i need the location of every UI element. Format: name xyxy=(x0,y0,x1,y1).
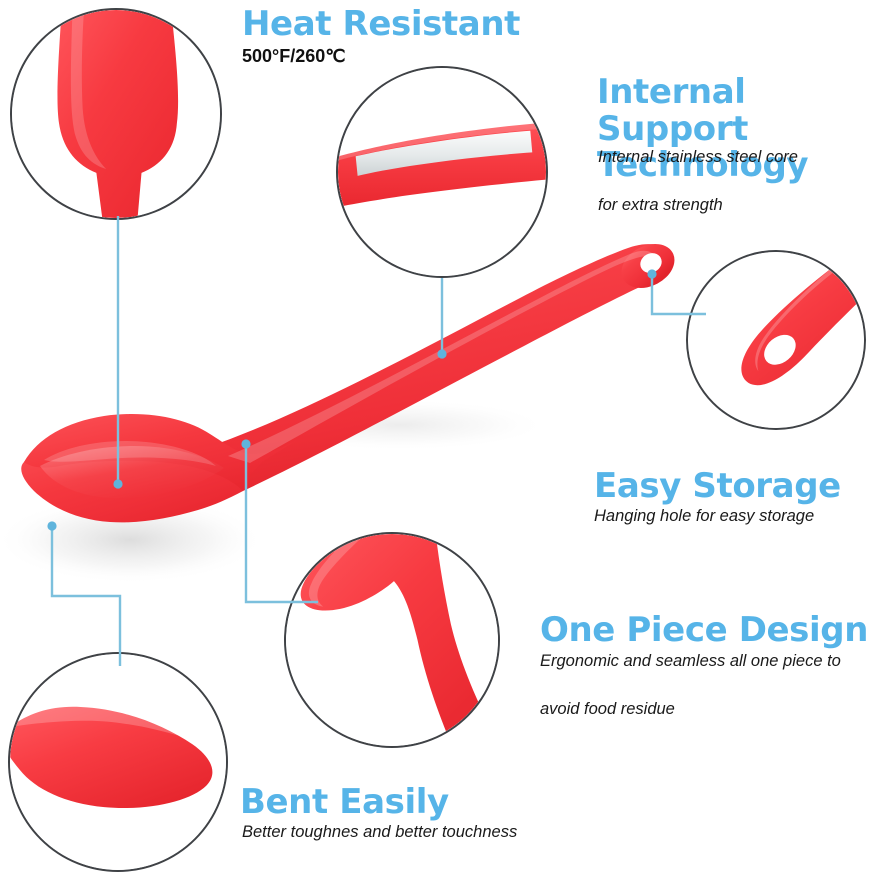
product-infographic: Heat Resistant 500°F/260℃ Internal Suppo… xyxy=(0,0,874,883)
feature-subtitle-heat-resistant: 500°F/260℃ xyxy=(242,46,542,68)
callout-spatula-head xyxy=(10,8,222,220)
callout-spatula-head-image xyxy=(12,10,220,218)
callout-steel-core xyxy=(336,66,548,278)
feature-subtitle-one-piece-design: Ergonomic and seamless all one piece to … xyxy=(540,650,874,722)
callout-hanging-hole-image xyxy=(688,252,864,428)
callout-bent-head-image xyxy=(10,654,226,870)
callout-one-piece-neck-image xyxy=(286,534,498,746)
callout-hanging-hole xyxy=(686,250,866,430)
callout-one-piece-neck xyxy=(284,532,500,748)
callout-bent-head xyxy=(8,652,228,872)
feature-title-easy-storage: Easy Storage xyxy=(594,468,874,505)
feature-subtitle-easy-storage: Hanging hole for easy storage xyxy=(594,505,874,528)
feature-subtitle-bent-easily: Better toughnes and better touchness xyxy=(242,822,662,843)
callout-steel-core-image xyxy=(338,68,546,276)
feature-title-bent-easily: Bent Easily xyxy=(240,784,540,821)
feature-title-heat-resistant: Heat Resistant xyxy=(242,6,572,43)
feature-subtitle-internal-support-technology: Internal stainless steel core for extra … xyxy=(598,146,866,218)
feature-title-one-piece-design: One Piece Design xyxy=(540,612,870,649)
